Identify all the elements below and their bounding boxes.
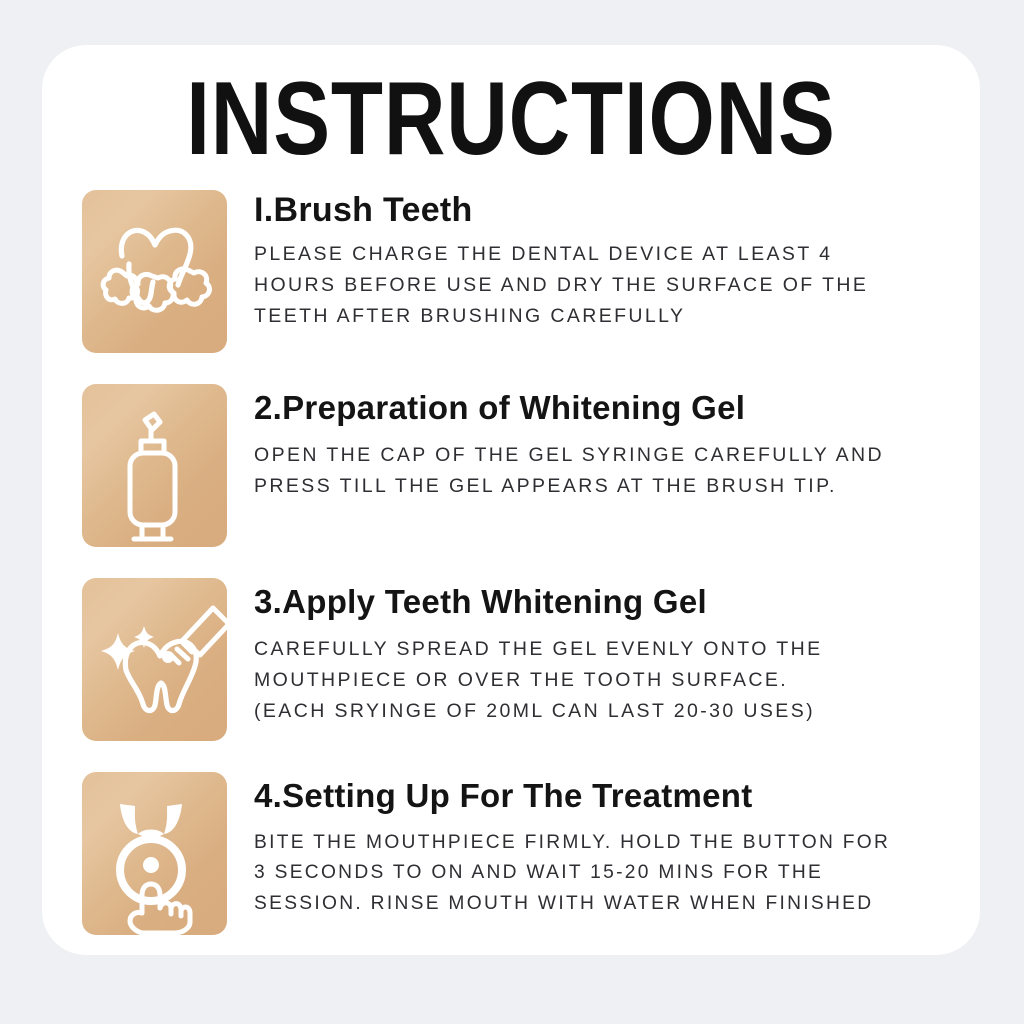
tooth-with-foam-icon <box>82 190 227 353</box>
step-3-body-line: (EACH SRYINGE OF 20ML CAN LAST 20-30 USE… <box>254 696 956 727</box>
instruction-card: INSTRUCTIONS <box>42 45 980 955</box>
step-4-body-line: BITE THE MOUTHPIECE FIRMLY. HOLD THE BUT… <box>254 828 956 859</box>
step-2-body: OPEN THE CAP OF THE GEL SYRINGE CAREFULL… <box>254 440 956 502</box>
step-3-content: 3.Apply Teeth Whitening Gel CAREFULLY SP… <box>227 578 956 727</box>
step-4-icon-tile <box>82 772 227 935</box>
step-2-body-line: PRESS TILL THE GEL APPEARS AT THE BRUSH … <box>254 471 956 502</box>
step-1-title: I.Brush Teeth <box>254 192 956 229</box>
step-2-body-line: OPEN THE CAP OF THE GEL SYRINGE CAREFULL… <box>254 440 956 471</box>
mouthpiece-button-press-icon <box>82 772 227 935</box>
step-3-body-line: CAREFULLY SPREAD THE GEL EVENLY ONTO THE <box>254 634 956 665</box>
step-1-icon-tile <box>82 190 227 353</box>
step-1-body-line: TEETH AFTER BRUSHING CAREFULLY <box>254 301 956 332</box>
step-4-body-line: SESSION. RINSE MOUTH WITH WATER WHEN FIN… <box>254 889 956 920</box>
step-2-title: 2.Preparation of Whitening Gel <box>254 390 956 426</box>
page-title: INSTRUCTIONS <box>126 45 895 171</box>
step-4-content: 4.Setting Up For The Treatment BITE THE … <box>227 772 956 920</box>
step-3-body-line: MOUTHPIECE OR OVER THE TOOTH SURFACE. <box>254 665 956 696</box>
step-4-title: 4.Setting Up For The Treatment <box>254 778 956 814</box>
step-3-body: CAREFULLY SPREAD THE GEL EVENLY ONTO THE… <box>254 634 956 728</box>
step-item-3: 3.Apply Teeth Whitening Gel CAREFULLY SP… <box>82 578 956 741</box>
step-item-4: 4.Setting Up For The Treatment BITE THE … <box>82 772 956 935</box>
step-item-1: I.Brush Teeth PLEASE CHARGE THE DENTAL D… <box>82 190 956 353</box>
step-2-icon-tile <box>82 384 227 547</box>
step-1-content: I.Brush Teeth PLEASE CHARGE THE DENTAL D… <box>227 190 956 332</box>
steps-list: I.Brush Teeth PLEASE CHARGE THE DENTAL D… <box>82 190 956 945</box>
step-1-body-line: HOURS BEFORE USE AND DRY THE SURFACE OF … <box>254 270 956 301</box>
step-1-body-line: PLEASE CHARGE THE DENTAL DEVICE AT LEAST… <box>254 239 956 270</box>
tooth-with-gel-applicator-icon <box>82 578 227 741</box>
gel-syringe-icon <box>82 384 227 547</box>
step-3-title: 3.Apply Teeth Whitening Gel <box>254 584 956 620</box>
step-item-2: 2.Preparation of Whitening Gel OPEN THE … <box>82 384 956 547</box>
step-2-content: 2.Preparation of Whitening Gel OPEN THE … <box>227 384 956 502</box>
step-4-body: BITE THE MOUTHPIECE FIRMLY. HOLD THE BUT… <box>254 828 956 920</box>
step-4-body-line: 3 SECONDS TO ON AND WAIT 15-20 MINS FOR … <box>254 858 956 889</box>
step-1-body: PLEASE CHARGE THE DENTAL DEVICE AT LEAST… <box>254 239 956 333</box>
step-3-icon-tile <box>82 578 227 741</box>
instruction-poster: INSTRUCTIONS <box>0 0 1024 1024</box>
